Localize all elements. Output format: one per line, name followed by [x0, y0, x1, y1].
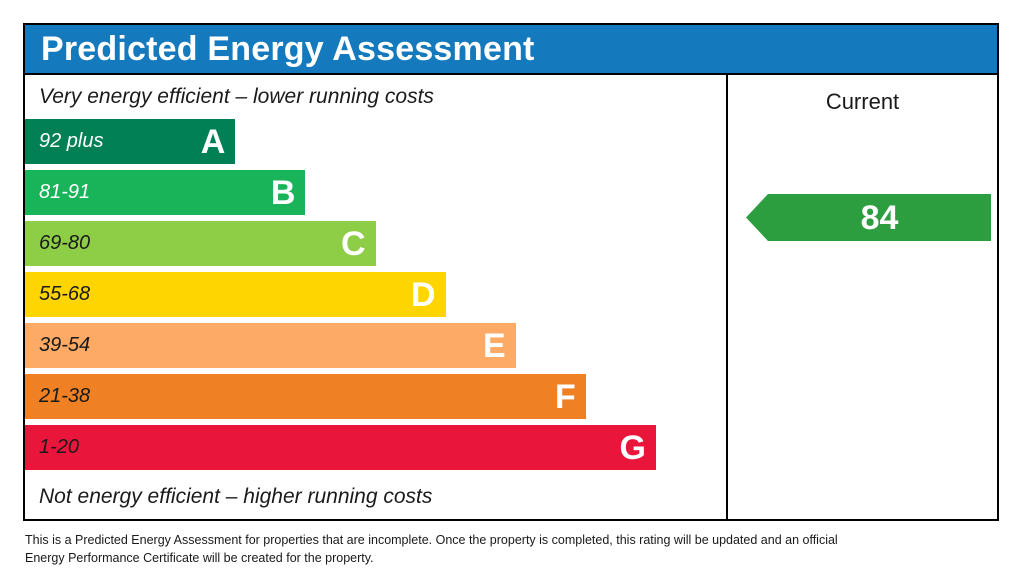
band-range-g: 1-20 [39, 436, 79, 459]
page-title: Predicted Energy Assessment [25, 30, 535, 69]
energy-certificate: Predicted Energy Assessment Very energy … [23, 23, 999, 521]
band-letter-f: F [555, 380, 580, 414]
band-range-d: 55-68 [39, 283, 90, 306]
efficiency-caption-top: Very energy efficient – lower running co… [25, 75, 726, 119]
efficiency-caption-top-text: Very energy efficient – lower running co… [25, 85, 434, 109]
band-range-c: 69-80 [39, 232, 90, 255]
band-row-b: 81-91B [25, 170, 305, 215]
efficiency-caption-bottom: Not energy efficient – higher running co… [25, 475, 726, 519]
band-letter-c: C [341, 227, 370, 261]
band-row-a: 92 plusA [25, 119, 235, 164]
band-letter-e: E [483, 329, 510, 363]
certificate-header: Predicted Energy Assessment [25, 25, 997, 75]
current-rating-arrow: 84 [746, 194, 991, 241]
current-rating-value: 84 [839, 201, 899, 235]
band-range-f: 21-38 [39, 385, 90, 408]
certificate-body: Very energy efficient – lower running co… [25, 75, 997, 519]
band-letter-b: B [271, 176, 300, 210]
band-range-b: 81-91 [39, 181, 90, 204]
band-range-e: 39-54 [39, 334, 90, 357]
band-row-d: 55-68D [25, 272, 446, 317]
band-range-a: 92 plus [39, 130, 104, 153]
band-row-g: 1-20G [25, 425, 656, 470]
efficiency-caption-bottom-text: Not energy efficient – higher running co… [25, 485, 432, 509]
band-scale-panel: Very energy efficient – lower running co… [25, 75, 728, 519]
band-letter-d: D [411, 278, 440, 312]
band-row-f: 21-38F [25, 374, 586, 419]
footnote-text: This is a Predicted Energy Assessment fo… [25, 531, 865, 567]
band-row-c: 69-80C [25, 221, 376, 266]
current-column-header: Current [728, 89, 997, 115]
band-letter-a: A [201, 125, 230, 159]
band-letter-g: G [619, 431, 649, 465]
band-list: 92 plusA81-91B69-80C55-68D39-54E21-38F1-… [25, 119, 726, 475]
band-row-e: 39-54E [25, 323, 516, 368]
current-rating-panel: Current 84 [728, 75, 997, 519]
